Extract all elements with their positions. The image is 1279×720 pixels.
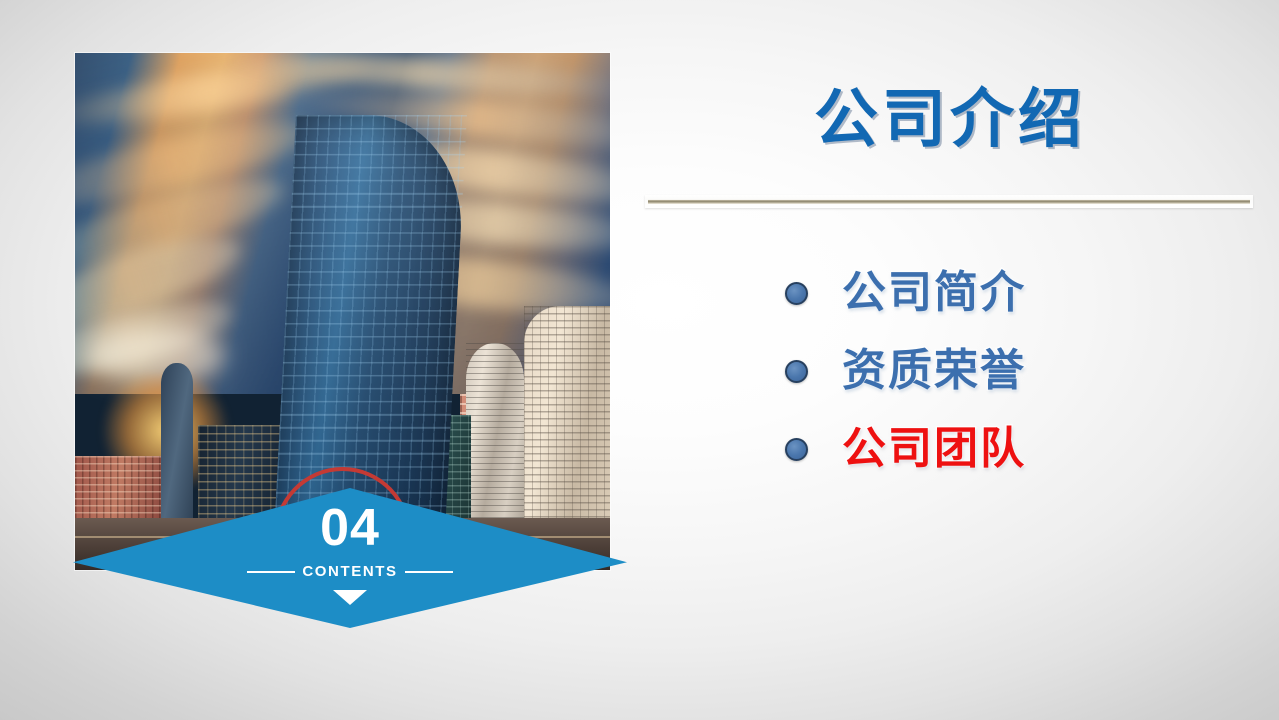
list-item-label: 资质荣誉: [842, 349, 1026, 393]
page-title: 公司介绍: [645, 86, 1255, 155]
presentation-slide: 04 CONTENTS 公司介绍 公司简介 资质荣誉 公司团队: [0, 0, 1279, 720]
bullet-dot-icon: [785, 282, 808, 305]
list-item[interactable]: 公司简介: [785, 254, 1255, 332]
list-item-label: 公司团队: [842, 427, 1026, 471]
title-divider: [645, 195, 1253, 208]
bullet-dot-icon: [785, 438, 808, 461]
bullet-list: 公司简介 资质荣誉 公司团队: [645, 254, 1255, 488]
list-item[interactable]: 公司团队: [785, 410, 1255, 488]
bullet-dot-icon: [785, 360, 808, 383]
list-item[interactable]: 资质荣誉: [785, 332, 1255, 410]
right-content-column: 公司介绍 公司简介 资质荣誉 公司团队: [645, 60, 1255, 600]
list-item-label: 公司简介: [842, 271, 1026, 315]
